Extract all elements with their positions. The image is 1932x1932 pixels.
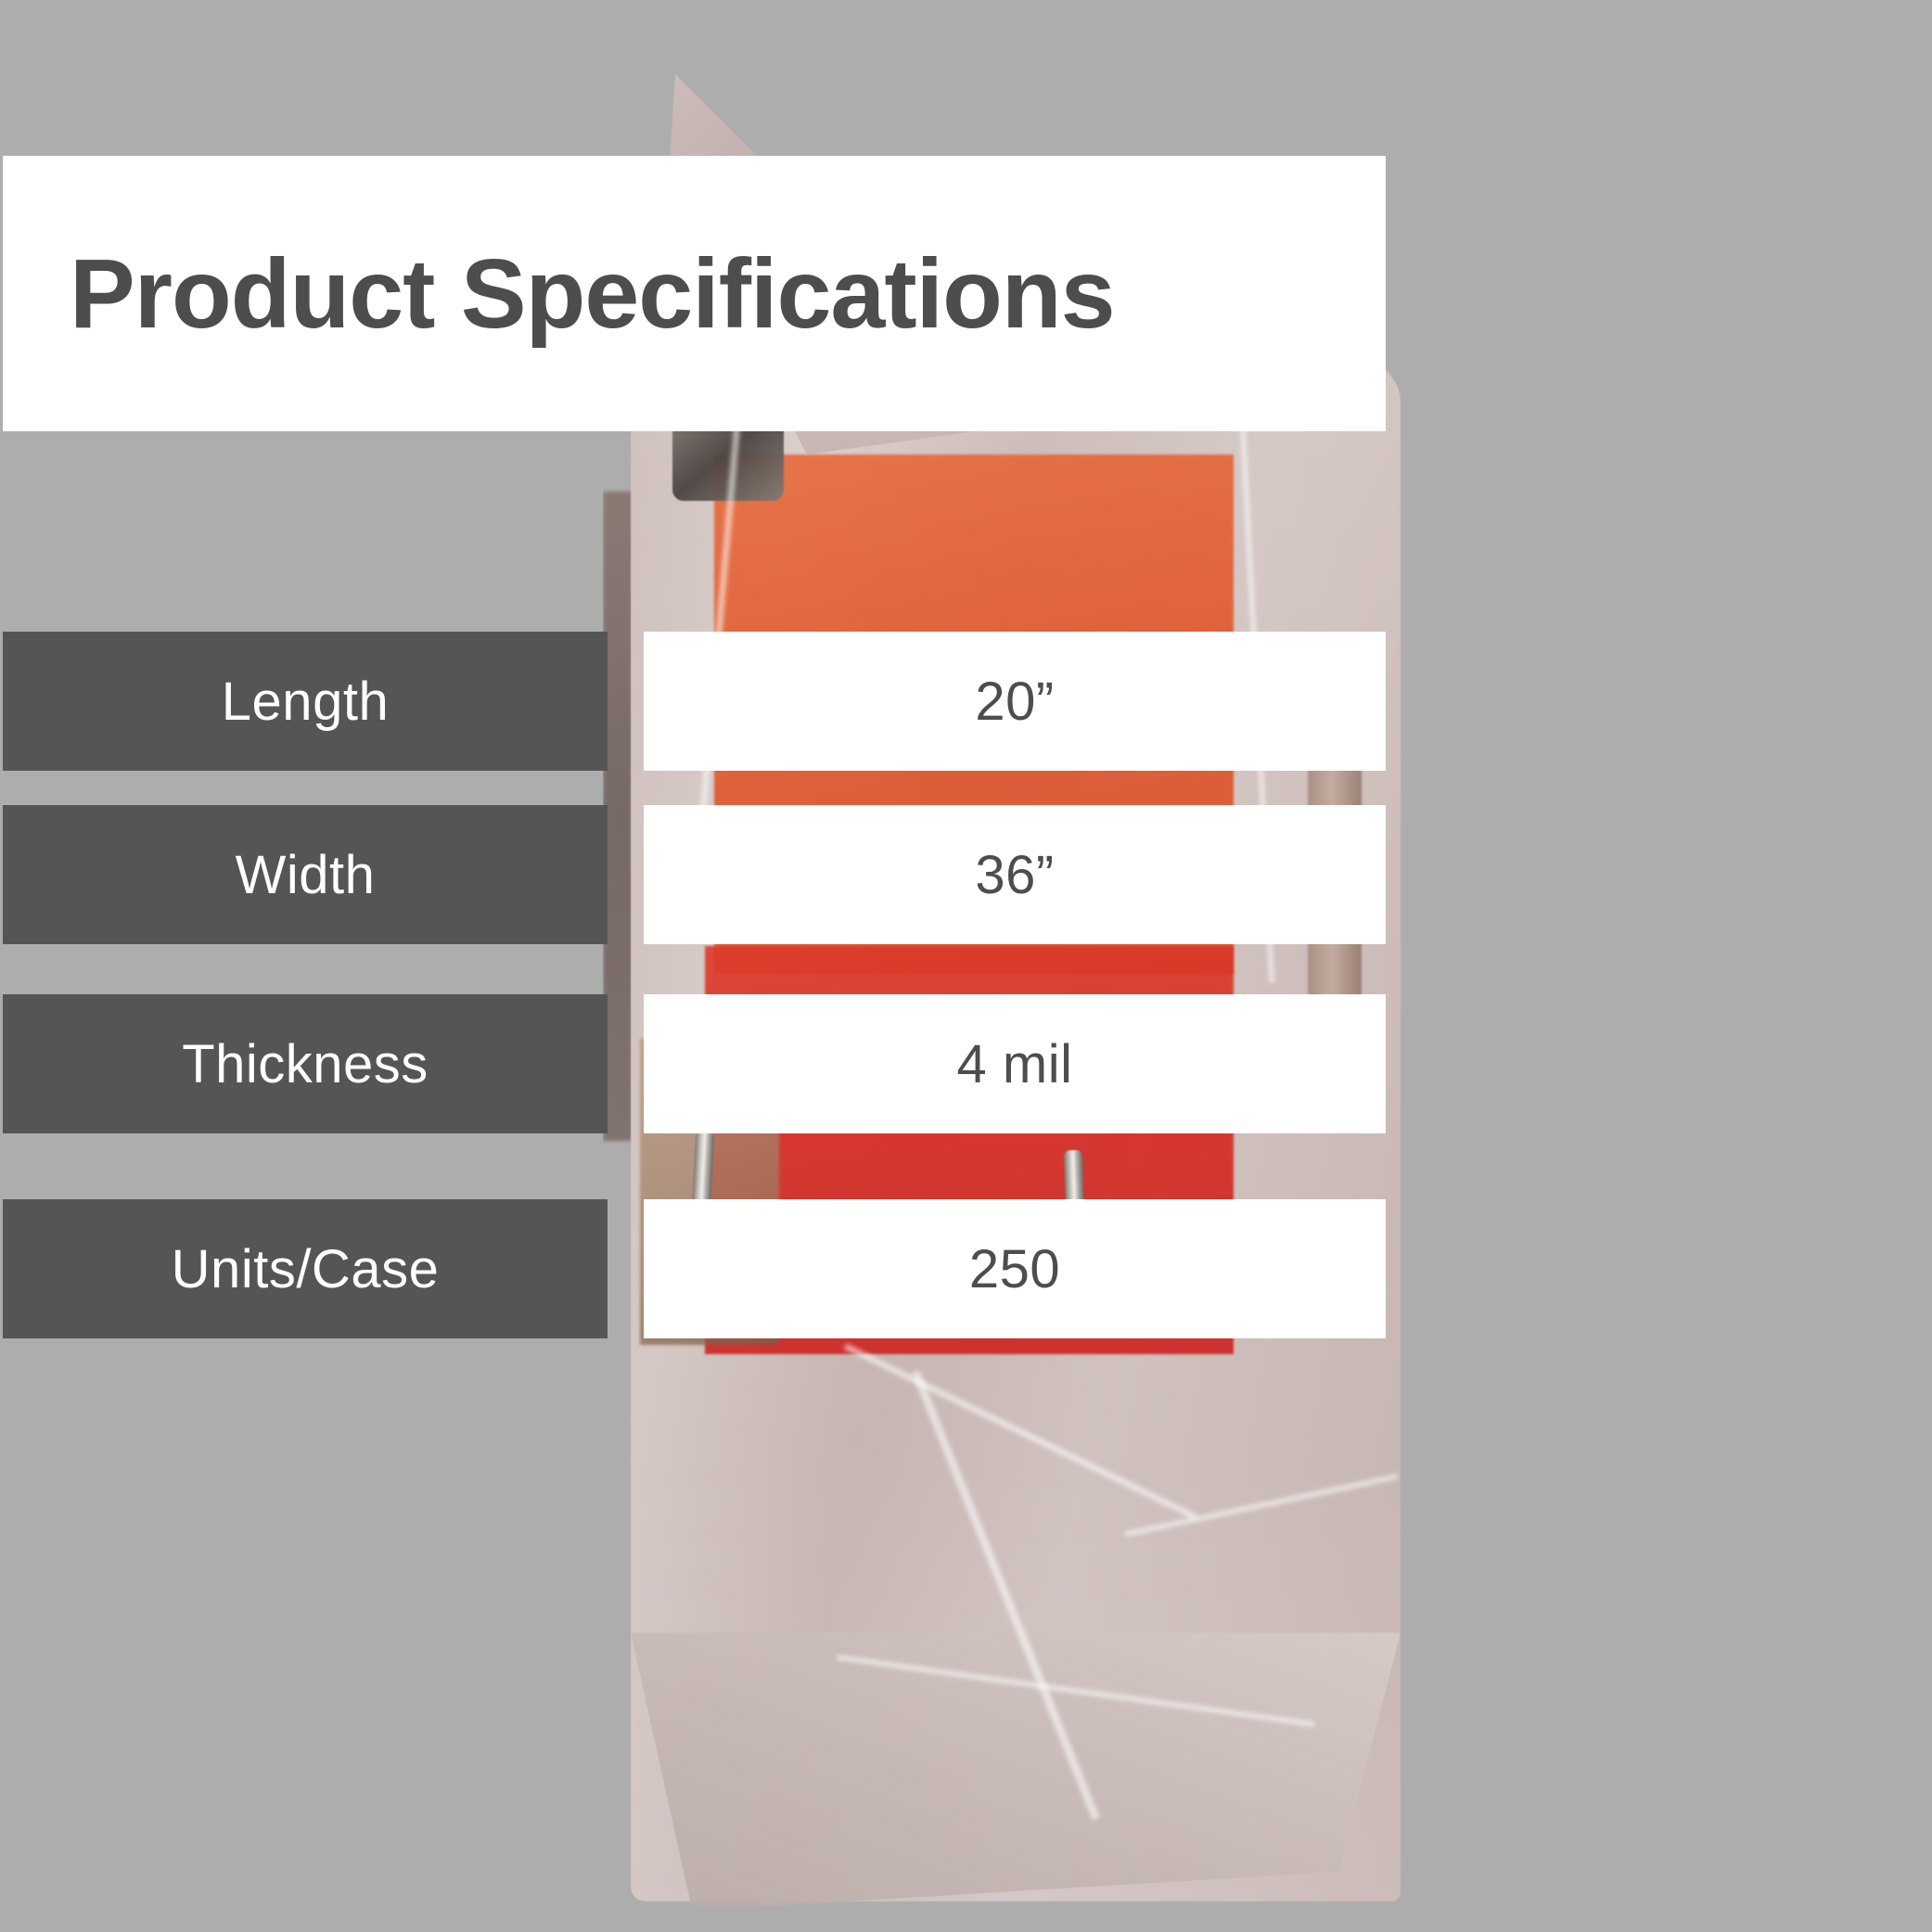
spec-label-text: Thickness — [182, 1033, 429, 1095]
spec-value-text: 250 — [969, 1238, 1060, 1300]
spec-label-box-length: Length — [3, 632, 608, 771]
spec-value-text: 36” — [975, 844, 1054, 906]
spec-label-box-width: Width — [3, 805, 608, 944]
poster-canvas: Product Specifications Length 20” Width … — [0, 0, 1932, 1932]
photo-bag-bottom-fold — [631, 1632, 1401, 1906]
spec-label-text: Width — [236, 844, 376, 906]
page-title: Product Specifications — [70, 245, 1115, 343]
spec-value-box-width: 36” — [644, 805, 1386, 944]
spec-label-box-thickness: Thickness — [3, 994, 608, 1133]
spec-value-text: 4 mil — [957, 1033, 1073, 1095]
spec-label-text: Length — [222, 671, 389, 733]
spec-label-text: Units/Case — [172, 1238, 440, 1300]
spec-value-box-units-per-case: 250 — [644, 1199, 1386, 1338]
title-banner: Product Specifications — [3, 156, 1386, 431]
spec-value-box-thickness: 4 mil — [644, 994, 1386, 1133]
spec-value-box-length: 20” — [644, 632, 1386, 771]
spec-value-text: 20” — [975, 671, 1054, 733]
spec-label-box-units-per-case: Units/Case — [3, 1199, 608, 1338]
